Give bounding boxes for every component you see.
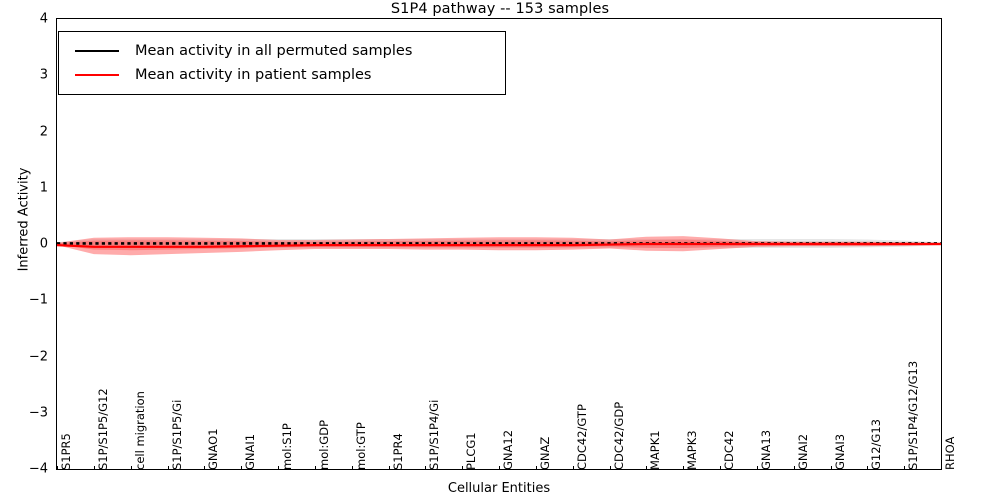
legend-label-permuted: Mean activity in all permuted samples bbox=[135, 43, 412, 59]
legend-label-patient: Mean activity in patient samples bbox=[135, 67, 371, 83]
x-axis-tick-label: cell migration bbox=[135, 391, 147, 470]
x-axis-tick-label: S1PR5 bbox=[61, 433, 73, 470]
x-axis-tick-label: G12/G13 bbox=[871, 419, 883, 470]
figure-canvas: S1P4 pathway -- 153 samples −4−3−2−10123… bbox=[0, 0, 1000, 500]
page-title: S1P4 pathway -- 153 samples bbox=[0, 1, 1000, 17]
x-axis-tick-label: CDC42 bbox=[724, 430, 736, 470]
x-axis-tick-label: PLCG1 bbox=[466, 432, 478, 470]
x-axis-tick-label: S1P/S1P5/Gi bbox=[172, 400, 184, 470]
chart-legend: Mean activity in all permuted samples Me… bbox=[58, 31, 506, 95]
x-axis-tick-label: S1P/S1P5/G12 bbox=[98, 388, 110, 470]
x-axis-tick-labels: S1PR5S1P/S1P5/G12cell migrationS1P/S1P5/… bbox=[56, 470, 942, 480]
x-axis-tick-label: GNAI1 bbox=[245, 434, 257, 470]
x-axis-tick-label: mol:GDP bbox=[319, 420, 331, 470]
x-axis-label: Cellular Entities bbox=[56, 481, 942, 496]
legend-item-permuted: Mean activity in all permuted samples bbox=[69, 39, 495, 63]
x-axis-tick-label: S1P/S1P4/Gi bbox=[429, 400, 441, 470]
x-axis-tick-label: GNAI2 bbox=[798, 434, 810, 470]
x-axis-tick-label: GNAO1 bbox=[208, 428, 220, 470]
x-axis-tick-label: GNA13 bbox=[761, 430, 773, 470]
x-axis-tick-label: S1P/S1P4/G12/G13 bbox=[908, 361, 920, 470]
x-axis-tick-label: S1PR4 bbox=[393, 433, 405, 470]
x-axis-tick-label: CDC42/GTP bbox=[577, 404, 589, 470]
legend-swatch-patient bbox=[75, 74, 119, 76]
x-axis-tick-label: MAPK3 bbox=[687, 430, 699, 470]
x-axis-tick-label: mol:GTP bbox=[356, 422, 368, 470]
y-axis-tick-label: −4 bbox=[6, 462, 48, 477]
x-axis-tick-label: mol:S1P bbox=[282, 423, 294, 470]
x-axis-tick-label: RHOA bbox=[945, 437, 957, 470]
x-axis-tick-label: GNA12 bbox=[503, 430, 515, 470]
legend-swatch-permuted bbox=[75, 50, 119, 52]
x-axis-tick-label: GNAI3 bbox=[835, 434, 847, 470]
legend-item-patient: Mean activity in patient samples bbox=[69, 63, 495, 87]
x-axis-tick-label: MAPK1 bbox=[650, 430, 662, 470]
y-axis-label: Inferred Activity bbox=[17, 10, 32, 430]
x-axis-tick-label: GNAZ bbox=[540, 437, 552, 470]
x-axis-tick-label: CDC42/GDP bbox=[614, 402, 626, 470]
